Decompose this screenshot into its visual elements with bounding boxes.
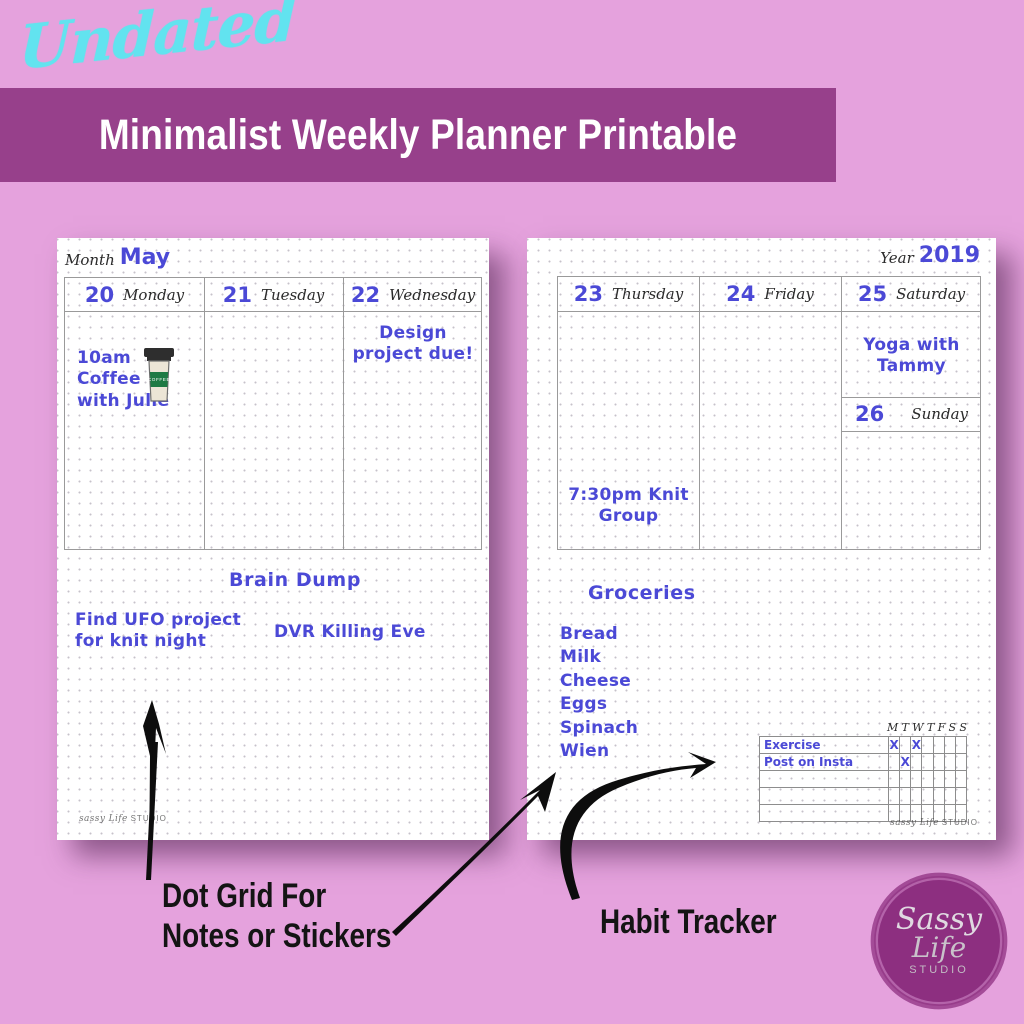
coffee-sticker-text: COFFEE <box>148 377 170 382</box>
habit-day-letters: MTWTFSS <box>887 721 967 734</box>
habit-cell[interactable] <box>911 788 922 805</box>
habit-cell[interactable] <box>889 771 900 788</box>
grid-divider <box>699 277 700 549</box>
year-value: 2019 <box>919 246 980 267</box>
habit-cell[interactable] <box>933 737 944 754</box>
day-name: Wednesday <box>389 286 475 304</box>
grocery-item[interactable]: Wien <box>560 740 638 763</box>
logo-line-life: Life <box>912 933 966 962</box>
day-number: 24 <box>726 282 755 306</box>
poster-canvas: Minimalist Weekly Planner Printable Unda… <box>0 0 1024 1024</box>
habit-cell[interactable]: X <box>911 737 922 754</box>
day-number: 23 <box>574 282 603 306</box>
day-header-saturday: 25 Saturday <box>841 277 982 310</box>
habit-row-label[interactable]: Exercise <box>760 737 889 754</box>
undated-text: Undated <box>18 0 297 84</box>
watermark-studio: STUDIO <box>942 818 978 827</box>
day-name: Thursday <box>612 285 683 303</box>
habit-cell[interactable] <box>900 737 911 754</box>
weekday-grid-right: 23 Thursday 24 Friday 25 Saturday 26 Sun… <box>557 276 981 550</box>
habit-cell[interactable] <box>900 788 911 805</box>
habit-day-letter: F <box>938 721 946 734</box>
habit-cell[interactable] <box>933 771 944 788</box>
habit-day-letter: T <box>902 721 909 734</box>
habit-cell[interactable] <box>889 788 900 805</box>
habit-cell[interactable] <box>955 771 966 788</box>
grid-divider <box>65 311 481 312</box>
day-header-monday: 20 Monday <box>65 278 204 311</box>
habit-cell[interactable] <box>889 754 900 771</box>
day-name: Monday <box>123 286 184 304</box>
habit-cell[interactable]: X <box>900 754 911 771</box>
grid-divider <box>841 431 980 432</box>
day-number: 26 <box>855 402 884 426</box>
callout-habit-tracker: Habit Tracker <box>600 902 777 942</box>
habit-day-letter: T <box>927 721 934 734</box>
habit-row[interactable] <box>760 788 967 805</box>
entry-thursday[interactable]: 7:30pm Knit Group <box>558 485 699 528</box>
habit-cell[interactable] <box>922 788 933 805</box>
logo-line-sassy: Sassy <box>896 906 982 934</box>
habit-row[interactable]: ExerciseXX <box>760 737 967 754</box>
day-header-tuesday: 21 Tuesday <box>204 278 343 311</box>
planner-page-left: Month May 20 Monday 21 Tuesday 22 Wednes… <box>57 238 489 840</box>
habit-row-label[interactable] <box>760 788 889 805</box>
habit-day-letter: M <box>887 721 898 734</box>
logo-line-studio: STUDIO <box>909 964 969 976</box>
habit-day-letter: S <box>959 721 967 734</box>
day-name: Tuesday <box>261 286 324 304</box>
grid-divider <box>343 278 344 549</box>
habit-row-label[interactable] <box>760 805 889 822</box>
callout-dot-grid: Dot Grid For Notes or Stickers <box>162 876 391 956</box>
habit-cell[interactable] <box>922 771 933 788</box>
watermark-left: sassy Life STUDIO <box>79 813 167 824</box>
grid-divider <box>558 311 980 312</box>
day-header-thursday: 23 Thursday <box>558 277 699 310</box>
day-number: 22 <box>351 283 380 307</box>
grocery-item[interactable]: Spinach <box>560 717 638 740</box>
watermark-studio: STUDIO <box>131 814 167 823</box>
habit-cell[interactable] <box>944 788 955 805</box>
habit-cell[interactable] <box>911 754 922 771</box>
planner-page-right: Year 2019 23 Thursday 24 Friday 25 Satur… <box>527 238 996 840</box>
entry-saturday[interactable]: Yoga with Tammy <box>841 335 982 378</box>
weekday-grid-left: 20 Monday 21 Tuesday 22 Wednesday 10am C… <box>64 277 482 550</box>
habit-row[interactable] <box>760 771 967 788</box>
habit-row-label[interactable]: Post on Insta <box>760 754 889 771</box>
grid-divider <box>204 278 205 549</box>
year-label: Year <box>880 249 914 267</box>
month-field[interactable]: Month May <box>65 248 170 269</box>
logo-text: Sassy Life STUDIO <box>872 874 1006 1008</box>
grocery-item[interactable]: Cheese <box>560 670 638 693</box>
brand-logo[interactable]: Sassy Life STUDIO <box>872 874 1006 1008</box>
groceries-list[interactable]: BreadMilkCheeseEggsSpinachWien <box>560 623 638 764</box>
habit-cell[interactable] <box>944 737 955 754</box>
grocery-item[interactable]: Bread <box>560 623 638 646</box>
groceries-title: Groceries <box>588 582 696 604</box>
month-value: May <box>120 248 170 269</box>
habit-cell[interactable] <box>955 788 966 805</box>
habit-tracker[interactable]: MTWTFSS ExerciseXXPost on InstaX <box>759 736 967 818</box>
grocery-item[interactable]: Eggs <box>560 693 638 716</box>
habit-tracker-table[interactable]: ExerciseXXPost on InstaX <box>759 736 967 822</box>
habit-day-letter: W <box>912 721 923 734</box>
brain-dump-note-left[interactable]: Find UFO project for knit night <box>75 610 241 653</box>
habit-cell[interactable] <box>944 754 955 771</box>
habit-cell[interactable] <box>922 737 933 754</box>
watermark-right: sassy Life STUDIO <box>890 817 978 828</box>
day-number: 25 <box>858 282 887 306</box>
day-header-friday: 24 Friday <box>699 277 841 310</box>
habit-row[interactable]: Post on InstaX <box>760 754 967 771</box>
day-header-wednesday: 22 Wednesday <box>343 278 483 311</box>
habit-row-label[interactable] <box>760 771 889 788</box>
habit-cell[interactable]: X <box>889 737 900 754</box>
day-name: Friday <box>764 285 813 303</box>
day-name: Sunday <box>911 405 968 423</box>
habit-cell[interactable] <box>933 754 944 771</box>
habit-day-letter: S <box>949 721 957 734</box>
watermark-script: sassy Life <box>79 814 128 824</box>
brain-dump-title: Brain Dump <box>229 569 361 591</box>
habit-cell[interactable] <box>900 771 911 788</box>
habit-cell[interactable] <box>922 754 933 771</box>
entry-wednesday[interactable]: Design project due! <box>343 323 483 366</box>
page-title: Minimalist Weekly Planner Printable <box>59 88 778 182</box>
year-field[interactable]: Year 2019 <box>880 246 980 267</box>
brain-dump-note-right[interactable]: DVR Killing Eve <box>274 622 426 643</box>
day-number: 21 <box>223 283 252 307</box>
grocery-item[interactable]: Milk <box>560 646 638 669</box>
habit-cell[interactable] <box>944 771 955 788</box>
coffee-cup-sticker: COFFEE <box>141 346 177 408</box>
month-label: Month <box>65 251 115 269</box>
habit-cell[interactable] <box>933 788 944 805</box>
habit-cell[interactable] <box>911 771 922 788</box>
habit-cell[interactable] <box>955 737 966 754</box>
undated-script-label: Undated <box>18 0 297 84</box>
watermark-script: sassy Life <box>890 818 939 828</box>
habit-cell[interactable] <box>955 754 966 771</box>
day-name: Saturday <box>896 285 965 303</box>
day-number: 20 <box>85 283 114 307</box>
day-header-sunday: 26 Sunday <box>841 397 982 430</box>
